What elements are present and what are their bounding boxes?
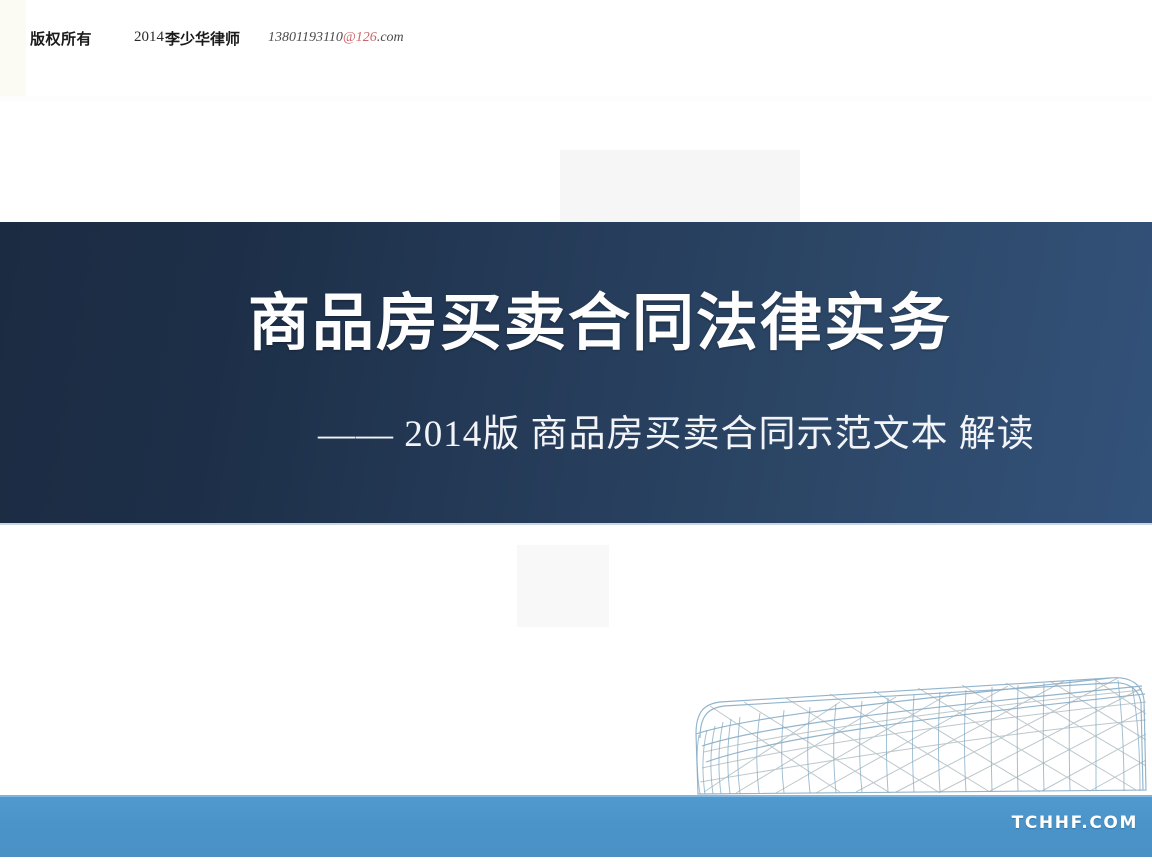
- author-email: 13801193110@126.com: [268, 30, 404, 46]
- background-wash-band: [0, 96, 1152, 102]
- email-tld-part: .com: [377, 30, 404, 45]
- background-wash-upper-center: [560, 150, 800, 222]
- presentation-slide: 版权所有 2014 李少华律师 13801193110@126.com 商品房买…: [0, 0, 1152, 864]
- author-name: 李少华律师: [165, 28, 240, 49]
- site-logo[interactable]: TCHHF.COM: [1012, 813, 1138, 833]
- copyright-header: 版权所有 2014 李少华律师 13801193110@126.com: [0, 26, 1152, 62]
- copyright-year: 2014: [134, 29, 164, 46]
- page-title: 商品房买卖合同法律实务: [248, 292, 952, 354]
- email-local-part: 13801193110: [268, 30, 343, 45]
- copyright-label: 版权所有: [30, 28, 92, 49]
- page-subtitle: —— 2014版 商品房买卖合同示范文本 解读: [318, 414, 1035, 457]
- email-domain-part: @126: [343, 30, 377, 45]
- background-wash-lower-center: [517, 545, 609, 627]
- footer-bar: TCHHF.COM: [0, 795, 1152, 857]
- title-banner: [0, 222, 1152, 523]
- birds-nest-stadium-icon: [690, 672, 1152, 800]
